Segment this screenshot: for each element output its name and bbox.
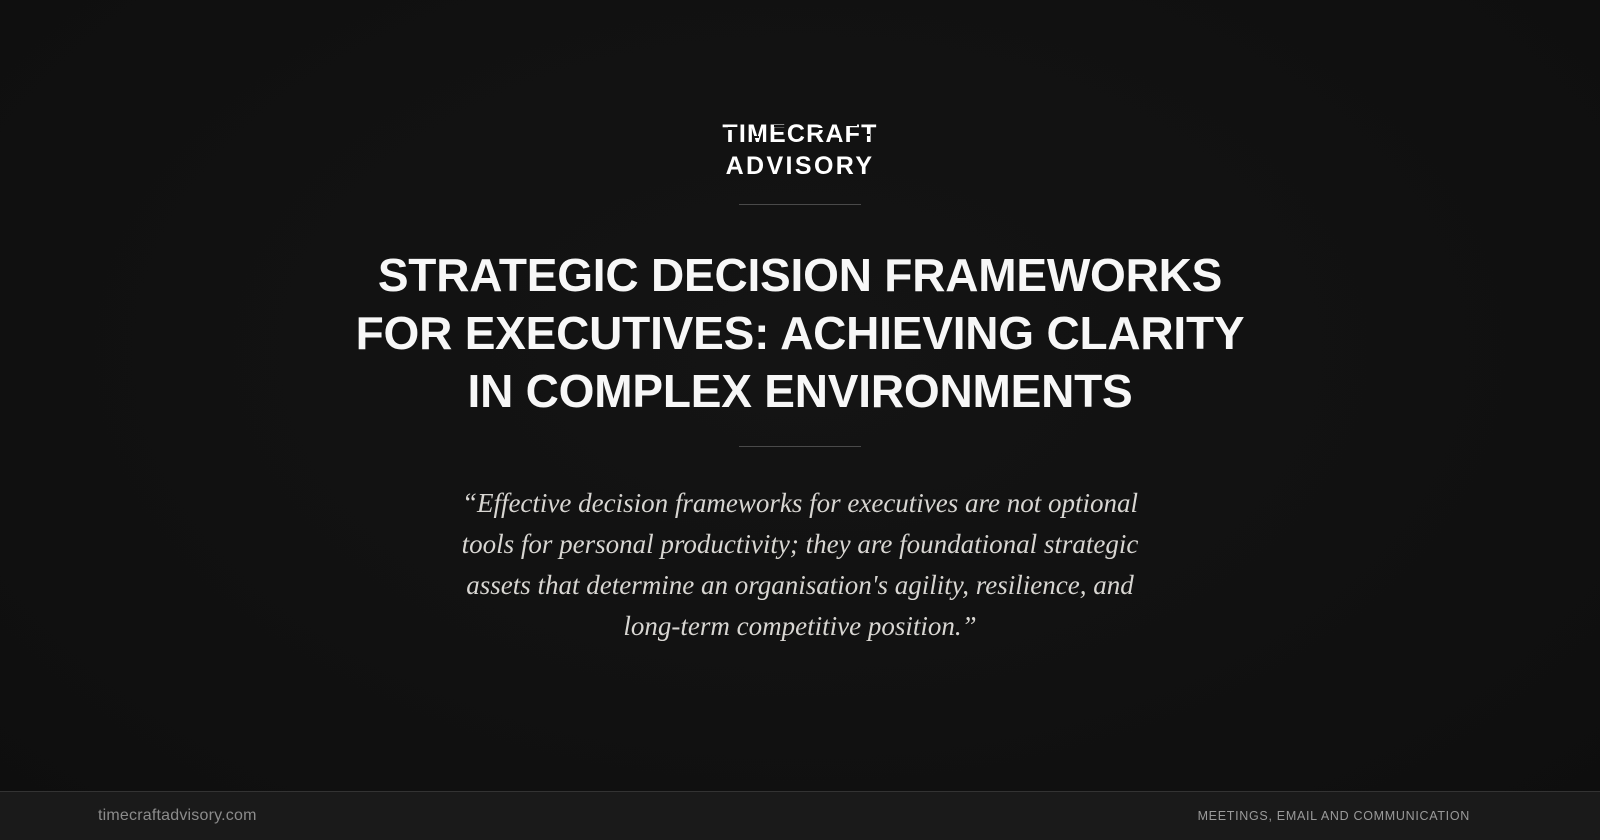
- brand-logo: TIMECRAFT ADVISORY: [722, 122, 877, 179]
- logo-wordmark-primary: TIMECRAFT: [722, 122, 877, 147]
- pull-quote: “Effective decision frameworks for execu…: [460, 483, 1140, 647]
- slide-footer: timecraftadvisory.com MEETINGS, EMAIL AN…: [0, 791, 1600, 840]
- slide-content-stage: TIMECRAFT ADVISORY Strategic Decision Fr…: [0, 0, 1600, 791]
- presentation-slide: TIMECRAFT ADVISORY Strategic Decision Fr…: [0, 0, 1600, 840]
- page-title: Strategic Decision Frameworks for Execut…: [350, 247, 1250, 421]
- logo-wordmark-secondary: ADVISORY: [726, 154, 875, 179]
- divider-above-title: [739, 204, 861, 205]
- footer-topic-label: MEETINGS, EMAIL AND COMMUNICATION: [1198, 809, 1502, 823]
- footer-website-url[interactable]: timecraftadvisory.com: [98, 807, 257, 825]
- divider-below-title: [739, 446, 861, 447]
